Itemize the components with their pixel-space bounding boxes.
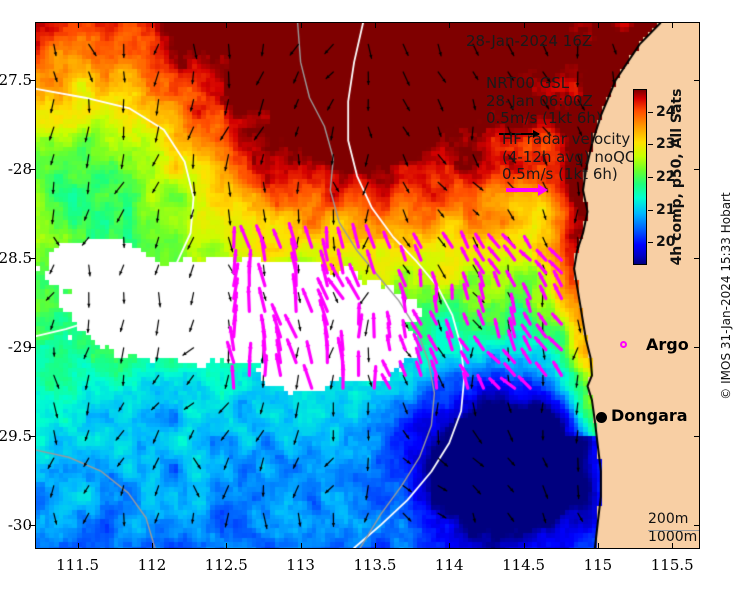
colorbar-tick-mark <box>648 242 653 243</box>
x-axis-tick-mark <box>598 543 599 549</box>
x-axis-tick-mark <box>301 22 302 28</box>
x-axis-tick-mark <box>524 22 525 28</box>
x-axis-tick-mark <box>152 543 153 549</box>
colorbar-tick-label: 22 <box>656 169 675 185</box>
colorbar-tick-mark <box>648 144 653 145</box>
colorbar-tick-mark <box>648 210 653 211</box>
y-axis-tick-mark <box>29 258 35 259</box>
argo-legend-label: Argo <box>646 335 689 354</box>
x-axis-tick-label: 111.5 <box>56 556 99 574</box>
x-axis-tick-label: 114.5 <box>502 556 545 574</box>
map-plot-area[interactable]: 28-Jan-2024 16Z NRT00 GSL 28-Jan 06:00Z … <box>35 22 700 549</box>
x-axis-tick-mark <box>301 543 302 549</box>
colorbar-tick-mark <box>648 177 653 178</box>
colorbar-tick-mark <box>648 112 653 113</box>
x-axis-tick-mark <box>672 22 673 28</box>
x-axis-tick-mark <box>78 22 79 28</box>
y-axis-tick-label: -28.5 <box>0 249 32 267</box>
y-axis-tick-mark <box>694 525 700 526</box>
y-axis-tick-mark <box>694 258 700 259</box>
y-axis-tick-label: -29.5 <box>0 427 32 445</box>
x-axis-tick-mark <box>226 22 227 28</box>
y-axis-tick-mark <box>29 347 35 348</box>
x-axis-tick-mark <box>375 22 376 28</box>
sst-map-figure: 28-Jan-2024 16Z NRT00 GSL 28-Jan 06:00Z … <box>0 0 740 592</box>
x-axis-tick-label: 113.5 <box>353 556 396 574</box>
x-axis-tick-label: 115 <box>584 556 613 574</box>
isobath-key: 200m 1000m <box>648 511 697 546</box>
colorbar-tick-label: 24 <box>656 104 675 120</box>
x-axis-tick-mark <box>449 543 450 549</box>
x-axis-tick-label: 115.5 <box>651 556 694 574</box>
x-axis-tick-mark <box>78 543 79 549</box>
map-date-title: 28-Jan-2024 16Z <box>466 33 592 51</box>
isobath-200m-sample <box>648 530 700 531</box>
y-axis-tick-mark <box>694 169 700 170</box>
imos-credit: © IMOS 31-Jan-2024 15:33 Hobart <box>719 192 733 399</box>
argo-marker-icon <box>620 341 627 348</box>
colorbar-tick-label: 20 <box>656 234 675 250</box>
x-axis-tick-mark <box>449 22 450 28</box>
isobath-200m-label: 200m <box>648 511 697 529</box>
colorbar-tick-label: 23 <box>656 136 675 152</box>
colorbar-tick-label: 21 <box>656 202 675 218</box>
x-axis-tick-mark <box>598 22 599 28</box>
x-axis-tick-label: 113 <box>286 556 315 574</box>
y-axis-tick-mark <box>694 436 700 437</box>
x-axis-tick-mark <box>375 543 376 549</box>
x-axis-tick-mark <box>152 22 153 28</box>
model-source-annotation: NRT00 GSL 28-Jan 06:00Z 0.5m/s (1kt 6h) <box>486 75 602 128</box>
dongara-label: Dongara <box>611 406 688 425</box>
y-axis-tick-mark <box>29 169 35 170</box>
y-axis-tick-mark <box>694 347 700 348</box>
x-axis-tick-label: 112.5 <box>205 556 248 574</box>
x-axis-tick-mark <box>524 543 525 549</box>
x-axis-tick-mark <box>226 543 227 549</box>
y-axis-tick-mark <box>29 80 35 81</box>
y-axis-tick-mark <box>29 525 35 526</box>
colorbar-gradient <box>633 89 647 265</box>
x-axis-tick-mark <box>672 543 673 549</box>
y-axis-tick-label: -27.5 <box>0 71 32 89</box>
y-axis-tick-mark <box>694 80 700 81</box>
y-axis-tick-mark <box>29 436 35 437</box>
x-axis-tick-label: 112 <box>138 556 167 574</box>
dongara-marker-icon <box>596 412 607 423</box>
hf-radar-annotation: HF radar velocity (4-12h avg) noQC 0.5m/… <box>502 131 635 184</box>
x-axis-tick-label: 114 <box>435 556 464 574</box>
hf-reference-arrow-icon <box>506 188 540 192</box>
